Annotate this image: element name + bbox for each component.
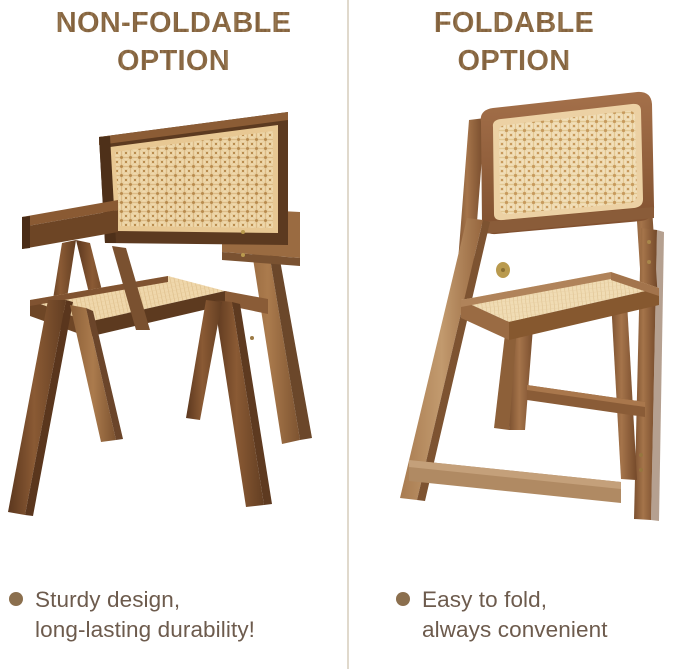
foldable-chair-illustration — [349, 0, 679, 580]
backrest-cane-panel — [499, 111, 637, 214]
bullet-dot-icon — [396, 592, 410, 606]
screw-detail — [639, 453, 643, 457]
screw-detail — [241, 253, 245, 257]
bullet-text: Easy to fold, always convenient — [422, 585, 608, 645]
hinge-screw — [501, 268, 505, 272]
screw-detail — [647, 240, 651, 244]
rear-leg-right — [611, 300, 637, 480]
bullet-non-foldable: Sturdy design, long-lasting durability! — [0, 585, 356, 645]
screw-detail — [647, 260, 651, 264]
front-leg-left-edge — [417, 220, 490, 501]
comparison-image: NON-FOLDABLE OPTION — [0, 0, 679, 669]
screw-detail — [241, 230, 245, 234]
bullet-text: Sturdy design, long-lasting durability! — [35, 585, 255, 645]
panel-foldable: FOLDABLE OPTION — [349, 0, 679, 669]
armrest-cap — [22, 216, 30, 249]
front-leg-right-inner — [186, 300, 222, 420]
non-foldable-chair-illustration — [0, 0, 347, 580]
front-leg-left — [400, 218, 483, 500]
screw-detail — [639, 468, 643, 472]
panel-non-foldable: NON-FOLDABLE OPTION — [0, 0, 347, 669]
screw-detail — [250, 336, 254, 340]
bullet-foldable: Easy to fold, always convenient — [349, 585, 679, 645]
bullet-dot-icon — [9, 592, 23, 606]
